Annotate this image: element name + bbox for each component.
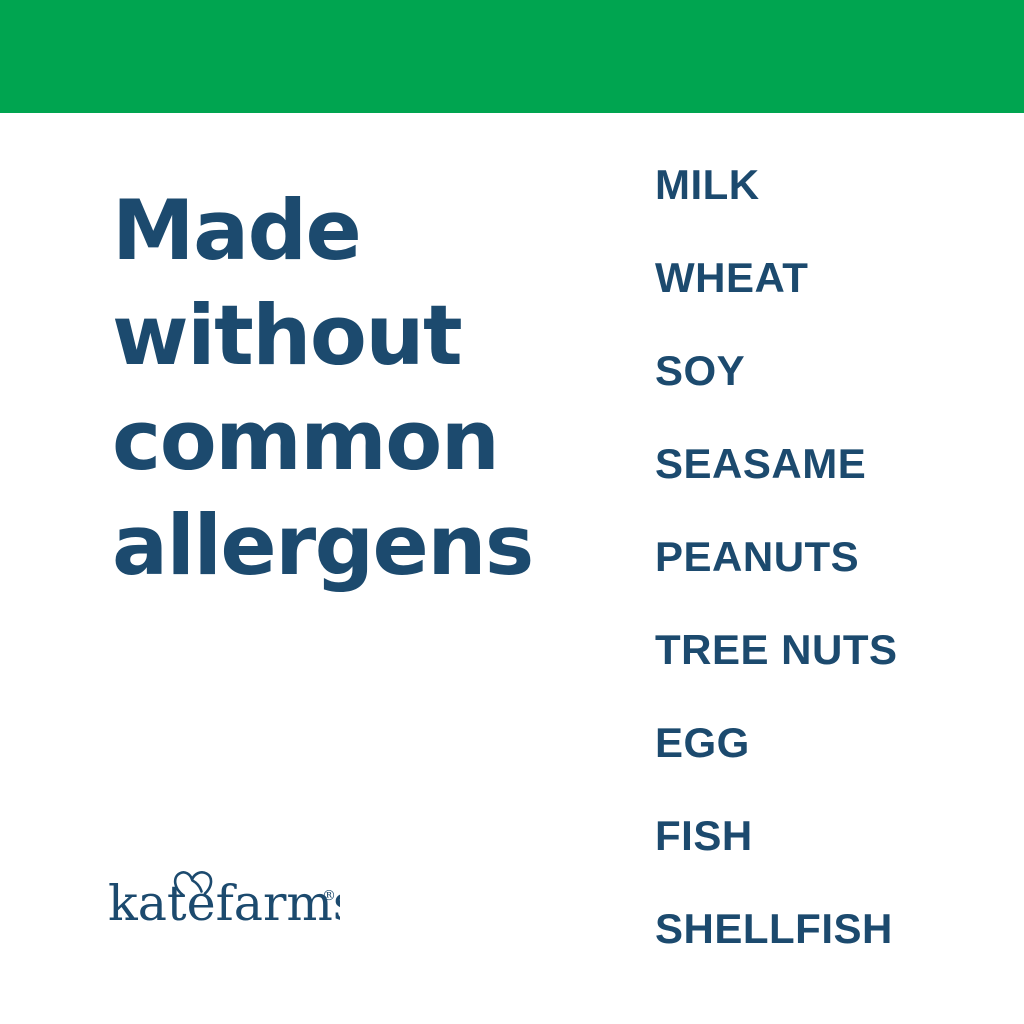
list-item: WHEAT <box>655 257 985 350</box>
list-item: SHELLFISH <box>655 908 985 1001</box>
brand-logo: katefarms ® <box>108 862 340 930</box>
allergen-info-poster: Made without common allergens MILK WHEAT… <box>0 0 1024 1024</box>
brand-wordmark: katefarms <box>108 875 340 930</box>
list-item: FISH <box>655 815 985 908</box>
green-header-band <box>0 0 1024 113</box>
list-item: SEASAME <box>655 443 985 536</box>
list-item: TREE NUTS <box>655 629 985 722</box>
list-item: MILK <box>655 164 985 257</box>
list-item: SOY <box>655 350 985 443</box>
page-title: Made without common allergens <box>112 178 592 598</box>
list-item: PEANUTS <box>655 536 985 629</box>
allergen-list: MILK WHEAT SOY SEASAME PEANUTS TREE NUTS… <box>655 164 985 1001</box>
list-item: EGG <box>655 722 985 815</box>
registered-trademark-icon: ® <box>322 888 336 904</box>
